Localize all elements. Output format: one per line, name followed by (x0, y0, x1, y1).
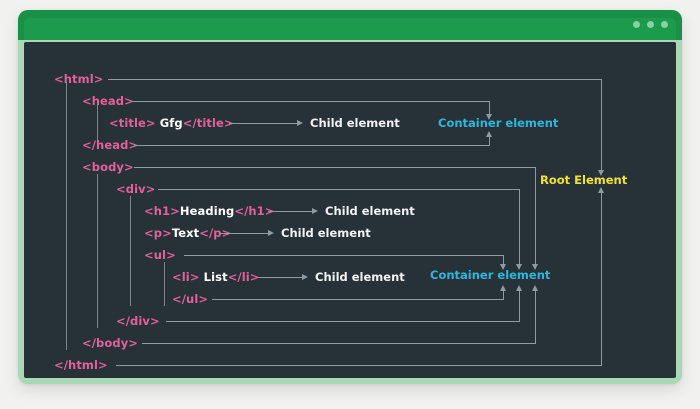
connector-title-to-child (229, 123, 297, 124)
tag-close-html: </html> (54, 358, 108, 372)
code-line-title: <title> Gfg</title> (109, 117, 234, 130)
code-line-head-close: </head> (82, 139, 138, 152)
window-controls (633, 21, 668, 28)
label-child-element-li: Child element (315, 271, 405, 284)
code-line-body-close: </body> (82, 337, 138, 350)
rail-body (97, 174, 98, 328)
arrowhead-li-to-child (302, 274, 308, 280)
connector-div-close-h (166, 321, 519, 322)
arrowhead-head-close (486, 131, 492, 137)
label-container-element-body: Container element (430, 269, 550, 282)
connector-ul-close-v (503, 291, 504, 300)
label-child-element-title: Child element (310, 117, 400, 130)
label-root-element: Root Element (540, 174, 627, 187)
connector-div-open-h (158, 189, 519, 190)
arrowhead-title-to-child (297, 120, 303, 126)
tag-open-p: <p> (144, 226, 172, 240)
window-dot-1[interactable] (633, 21, 640, 28)
connector-p-to-child (220, 233, 268, 234)
window-dot-3[interactable] (661, 21, 668, 28)
connector-html-close-h (116, 365, 601, 366)
rail-html (66, 82, 67, 350)
tag-close-title: </title> (183, 116, 234, 130)
text-li: List (200, 270, 228, 284)
code-line-html-close: </html> (54, 359, 108, 372)
connector-head-close-v (489, 137, 490, 146)
tag-close-head: </head> (82, 138, 138, 152)
arrowhead-body-close (532, 285, 538, 291)
code-line-li: <li> List</li> (172, 271, 260, 284)
text-title: Gfg (156, 116, 183, 130)
connector-html-open-v (601, 79, 602, 171)
code-line-ul-open: <ul> (144, 249, 176, 262)
label-container-element-head: Container element (438, 117, 558, 130)
tag-open-html: <html> (54, 72, 103, 86)
tag-close-li: </li> (228, 270, 260, 284)
connector-html-open-h (108, 79, 601, 80)
diagram-canvas: <html> <head> <title> Gfg</title> </head… (24, 42, 676, 378)
arrowhead-div-close (516, 285, 522, 291)
browser-window: <html> <head> <title> Gfg</title> </head… (18, 10, 682, 384)
code-line-div-open: <div> (116, 183, 155, 196)
rail-ul (164, 262, 165, 306)
title-bar-tab-strip (24, 18, 676, 40)
connector-li-to-child (258, 277, 302, 278)
tag-open-li: <li> (172, 270, 200, 284)
code-line-p: <p>Text</p> (144, 227, 231, 240)
rail-div (130, 196, 131, 306)
code-line-h1: <h1>Heading</h1> (144, 205, 275, 218)
connector-head-close-h (134, 145, 489, 146)
tag-close-div: </div> (116, 314, 160, 328)
connector-body-close-v (535, 291, 536, 344)
connector-div-close-v (519, 291, 520, 322)
text-p: Text (172, 226, 199, 240)
window-title-bar (18, 10, 682, 40)
connector-h1-to-child (268, 211, 312, 212)
arrowhead-ul-close (500, 285, 506, 291)
code-line-body-open: <body> (82, 161, 134, 174)
connector-head-open-h (132, 101, 489, 102)
connector-html-close-v (601, 193, 602, 366)
arrowhead-p-to-child (268, 230, 274, 236)
tag-open-div: <div> (116, 182, 155, 196)
tag-open-ul: <ul> (144, 248, 176, 262)
code-line-ul-close: </ul> (172, 293, 208, 306)
connector-body-open-v (535, 167, 536, 265)
code-line-html-open: <html> (54, 73, 103, 86)
connector-ul-open-h (184, 255, 503, 256)
tag-open-h1: <h1> (144, 204, 180, 218)
connector-head-open-v (489, 101, 490, 115)
connector-body-open-h (134, 167, 535, 168)
label-child-element-h1: Child element (325, 205, 415, 218)
tag-open-body: <body> (82, 160, 134, 174)
connector-body-close-h (142, 343, 535, 344)
tag-open-head: <head> (82, 94, 134, 108)
connector-ul-close-h (212, 299, 503, 300)
code-line-div-close: </div> (116, 315, 160, 328)
arrowhead-h1-to-child (312, 208, 318, 214)
code-line-head-open: <head> (82, 95, 134, 108)
connector-div-open-v (519, 189, 520, 265)
tag-close-body: </body> (82, 336, 138, 350)
arrowhead-html-close (598, 187, 604, 193)
window-dot-2[interactable] (647, 21, 654, 28)
label-child-element-p: Child element (281, 227, 371, 240)
tag-open-title: <title> (109, 116, 156, 130)
text-h1: Heading (180, 204, 234, 218)
tag-close-ul: </ul> (172, 292, 208, 306)
